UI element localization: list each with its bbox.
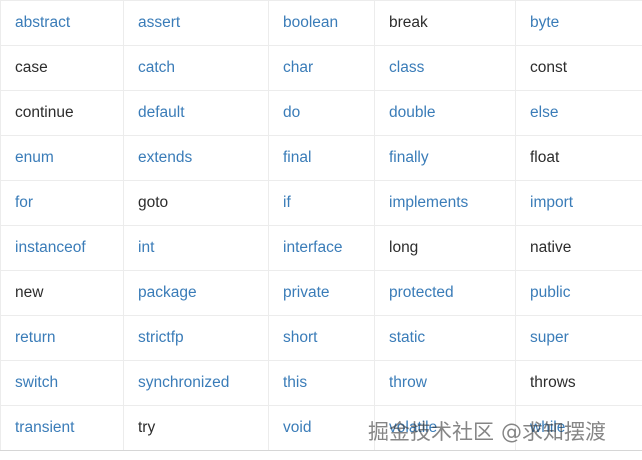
keyword-link-cell[interactable]: final (269, 136, 375, 181)
java-keywords-table: abstractassertbooleanbreakbytecasecatchc… (0, 0, 642, 451)
keyword-text-cell: long (375, 226, 516, 271)
table-row: returnstrictfpshortstaticsuper (1, 316, 642, 361)
keyword-link-cell[interactable]: super (516, 316, 642, 361)
table-row: abstractassertbooleanbreakbyte (1, 1, 642, 46)
keyword-link-cell[interactable]: return (1, 316, 124, 361)
keyword-link-cell[interactable]: catch (124, 46, 269, 91)
keyword-link-cell[interactable]: public (516, 271, 642, 316)
keyword-text-cell: float (516, 136, 642, 181)
keyword-link-cell[interactable]: implements (375, 181, 516, 226)
table-row: enumextendsfinalfinallyfloat (1, 136, 642, 181)
keyword-link-cell[interactable]: transient (1, 406, 124, 451)
table-row: transienttryvoidvolatilewhile (1, 406, 642, 451)
table-row: instanceofintinterfacelongnative (1, 226, 642, 271)
keyword-text-cell: break (375, 1, 516, 46)
keyword-link-cell[interactable]: interface (269, 226, 375, 271)
keyword-link-cell[interactable]: void (269, 406, 375, 451)
keyword-link-cell[interactable]: finally (375, 136, 516, 181)
keyword-link-cell[interactable]: protected (375, 271, 516, 316)
keyword-link-cell[interactable]: package (124, 271, 269, 316)
keyword-link-cell[interactable]: int (124, 226, 269, 271)
keyword-link-cell[interactable]: instanceof (1, 226, 124, 271)
keyword-link-cell[interactable]: default (124, 91, 269, 136)
keyword-link-cell[interactable]: byte (516, 1, 642, 46)
keyword-text-cell: try (124, 406, 269, 451)
keyword-text-cell: throws (516, 361, 642, 406)
keyword-link-cell[interactable]: else (516, 91, 642, 136)
keyword-link-cell[interactable]: volatile (375, 406, 516, 451)
keyword-link-cell[interactable]: static (375, 316, 516, 361)
keyword-link-cell[interactable]: for (1, 181, 124, 226)
keyword-link-cell[interactable]: synchronized (124, 361, 269, 406)
keyword-link-cell[interactable]: do (269, 91, 375, 136)
keyword-table-body: abstractassertbooleanbreakbytecasecatchc… (1, 1, 642, 451)
keyword-link-cell[interactable]: boolean (269, 1, 375, 46)
table-row: continuedefaultdodoubleelse (1, 91, 642, 136)
keyword-text-cell: goto (124, 181, 269, 226)
keyword-link-cell[interactable]: while (516, 406, 642, 451)
keyword-table-container: abstractassertbooleanbreakbytecasecatchc… (0, 0, 642, 460)
keyword-link-cell[interactable]: short (269, 316, 375, 361)
keyword-text-cell: native (516, 226, 642, 271)
table-row: newpackageprivateprotectedpublic (1, 271, 642, 316)
keyword-link-cell[interactable]: extends (124, 136, 269, 181)
keyword-link-cell[interactable]: double (375, 91, 516, 136)
keyword-text-cell: continue (1, 91, 124, 136)
keyword-link-cell[interactable]: class (375, 46, 516, 91)
keyword-link-cell[interactable]: private (269, 271, 375, 316)
keyword-link-cell[interactable]: assert (124, 1, 269, 46)
table-row: casecatchcharclassconst (1, 46, 642, 91)
keyword-link-cell[interactable]: throw (375, 361, 516, 406)
table-row: forgotoifimplementsimport (1, 181, 642, 226)
keyword-link-cell[interactable]: import (516, 181, 642, 226)
keyword-link-cell[interactable]: switch (1, 361, 124, 406)
keyword-link-cell[interactable]: strictfp (124, 316, 269, 361)
keyword-text-cell: case (1, 46, 124, 91)
keyword-text-cell: const (516, 46, 642, 91)
keyword-text-cell: new (1, 271, 124, 316)
table-row: switchsynchronizedthisthrowthrows (1, 361, 642, 406)
keyword-link-cell[interactable]: char (269, 46, 375, 91)
keyword-link-cell[interactable]: this (269, 361, 375, 406)
keyword-link-cell[interactable]: abstract (1, 1, 124, 46)
keyword-link-cell[interactable]: enum (1, 136, 124, 181)
keyword-link-cell[interactable]: if (269, 181, 375, 226)
